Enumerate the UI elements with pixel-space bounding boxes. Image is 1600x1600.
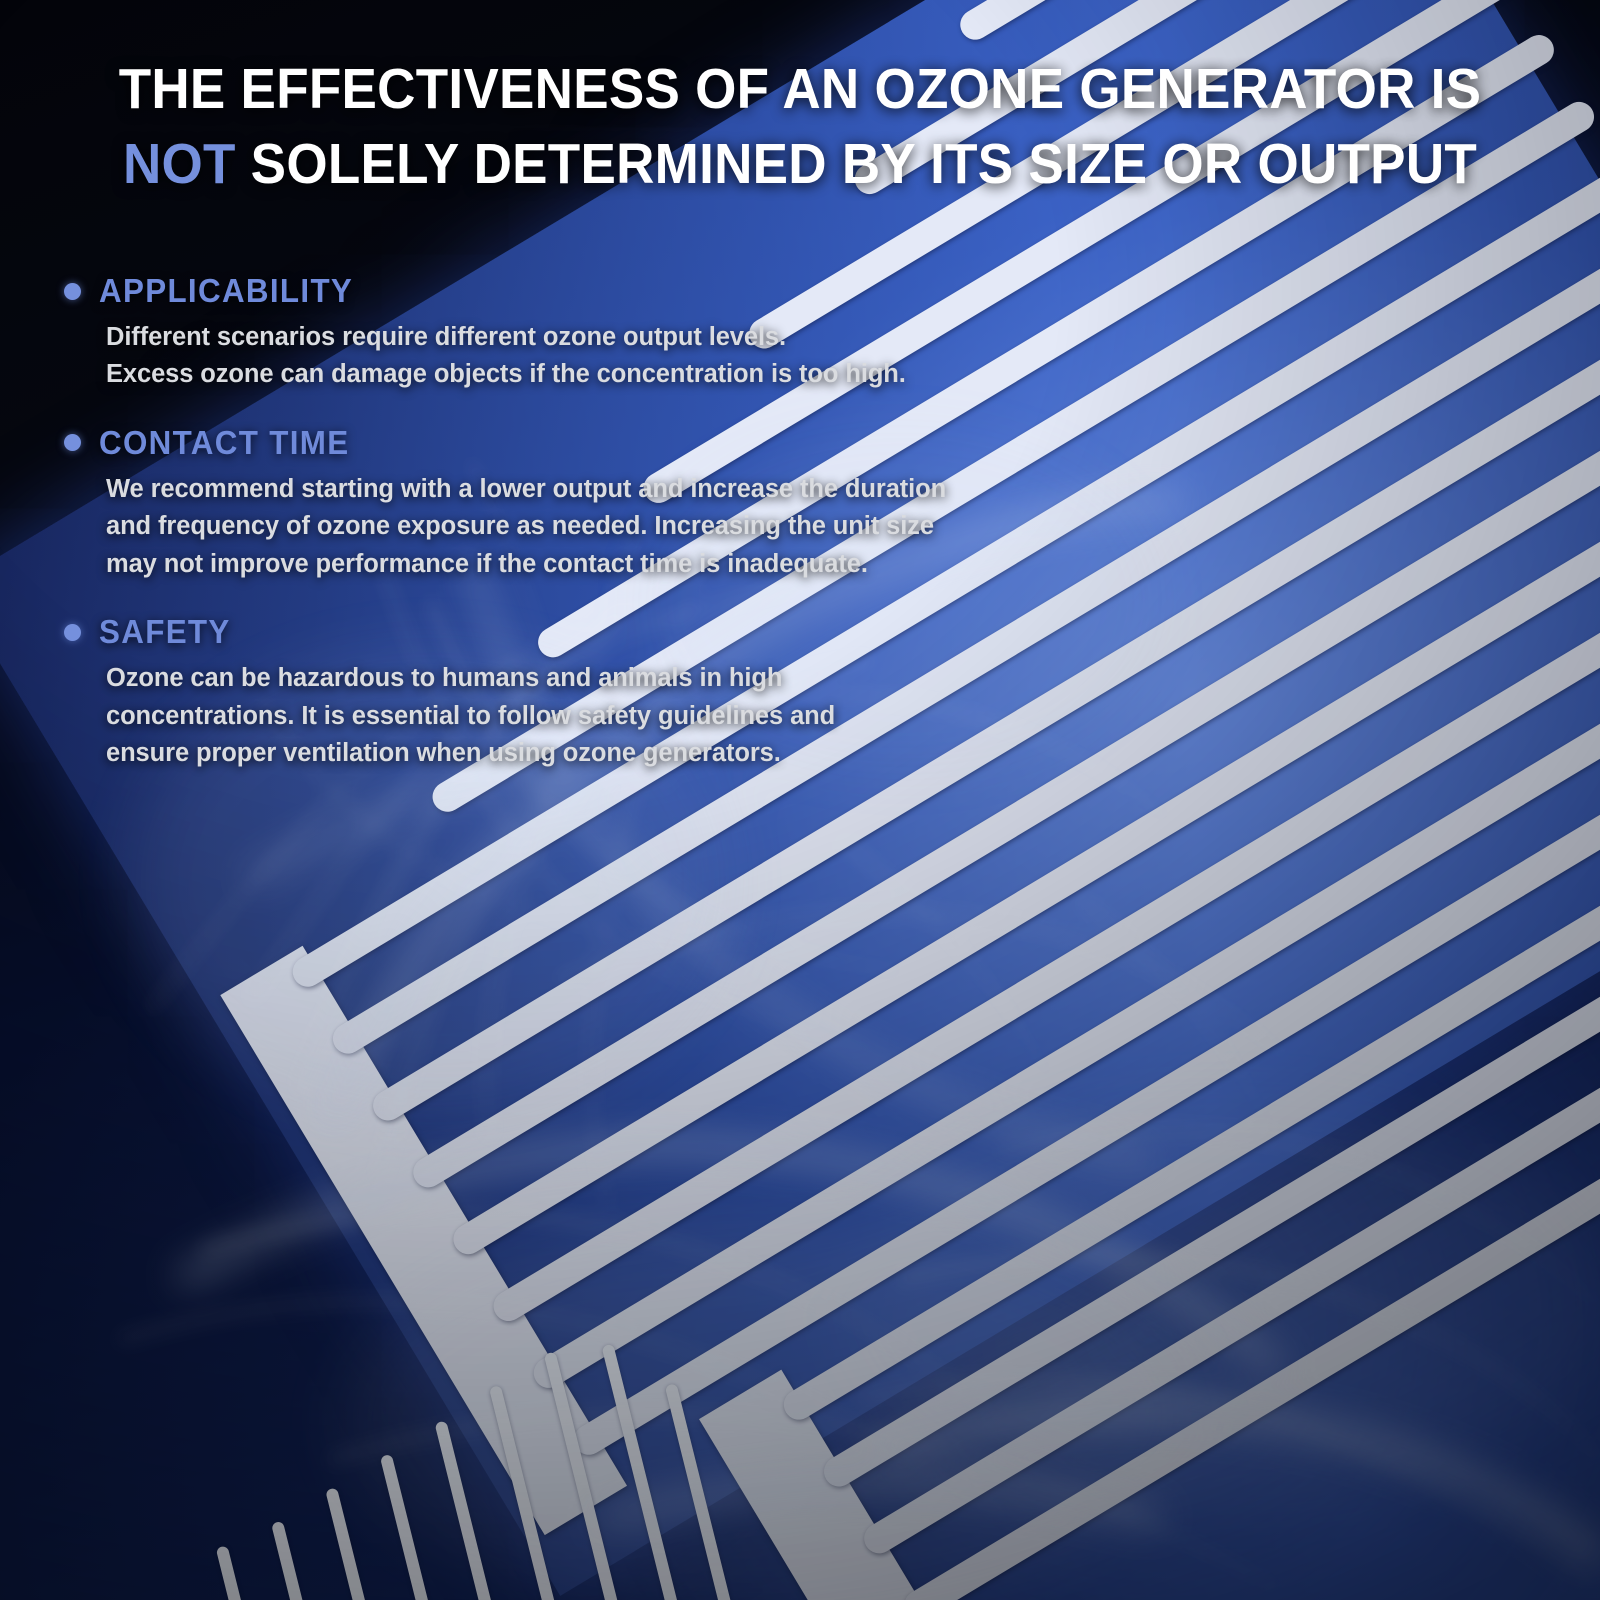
title-line-2: NOT SOLELY DETERMINED BY ITS SIZE OR OUT…: [56, 127, 1544, 202]
section-heading-row: CONTACT TIME: [58, 424, 1238, 462]
body-line: Ozone can be hazardous to humans and ani…: [106, 660, 1238, 697]
section-safety: SAFETY Ozone can be hazardous to humans …: [58, 613, 1238, 772]
section-body: We recommend starting with a lower outpu…: [106, 471, 1238, 583]
body-line: We recommend starting with a lower outpu…: [106, 471, 1238, 508]
section-heading: APPLICABILITY: [99, 272, 353, 310]
section-heading: CONTACT TIME: [99, 424, 349, 462]
bullet-dot-icon: [64, 283, 81, 300]
body-line: ensure proper ventilation when using ozo…: [106, 735, 1238, 772]
section-body: Different scenarios require different oz…: [106, 319, 1238, 394]
infographic-poster: THE EFFECTIVENESS OF AN OZONE GENERATOR …: [0, 0, 1600, 1600]
section-body: Ozone can be hazardous to humans and ani…: [106, 660, 1238, 772]
page-title: THE EFFECTIVENESS OF AN OZONE GENERATOR …: [56, 52, 1544, 202]
title-line-1: THE EFFECTIVENESS OF AN OZONE GENERATOR …: [56, 52, 1544, 127]
section-heading-row: APPLICABILITY: [58, 272, 1238, 310]
body-line: and frequency of ozone exposure as neede…: [106, 508, 1238, 545]
title-emphasis-not: NOT: [123, 132, 236, 196]
section-heading: SAFETY: [99, 613, 231, 651]
section-heading-row: SAFETY: [58, 613, 1238, 651]
body-line: concentrations. It is essential to follo…: [106, 698, 1238, 735]
body-line: Excess ozone can damage objects if the c…: [106, 356, 1238, 393]
bullet-dot-icon: [64, 434, 81, 451]
body-line: Different scenarios require different oz…: [106, 319, 1238, 356]
bullet-dot-icon: [64, 624, 81, 641]
body-line: may not improve performance if the conta…: [106, 546, 1238, 583]
sections-list: APPLICABILITY Different scenarios requir…: [58, 272, 1238, 797]
section-applicability: APPLICABILITY Different scenarios requir…: [58, 272, 1238, 394]
title-line-2-rest: SOLELY DETERMINED BY ITS SIZE OR OUTPUT: [236, 132, 1477, 196]
section-contact-time: CONTACT TIME We recommend starting with …: [58, 424, 1238, 583]
